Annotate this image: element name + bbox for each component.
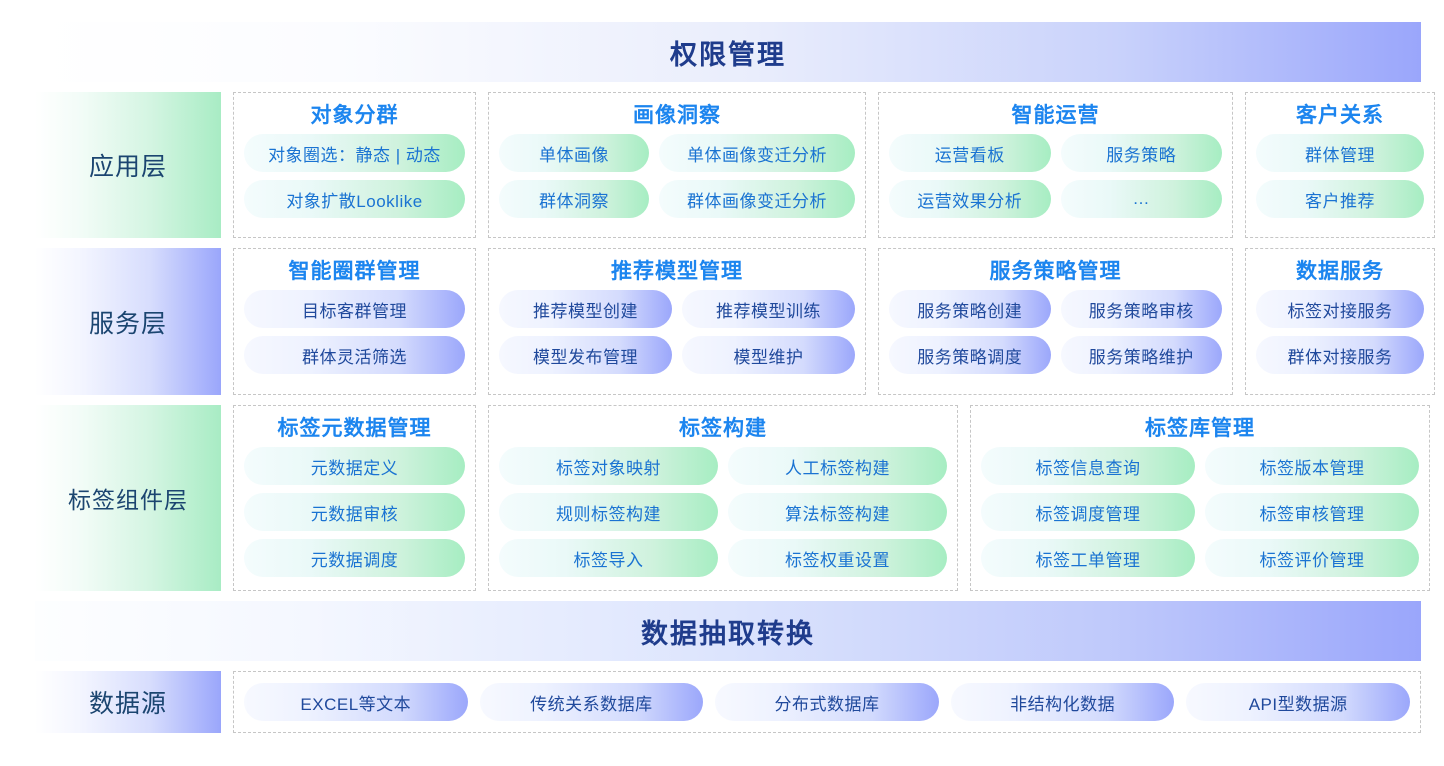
pill-item[interactable]: 标签评价管理 [1205,539,1419,577]
pill-grid: 服务策略创建 服务策略审核 服务策略调度 服务策略维护 [889,290,1222,385]
section-tag-library-management: 标签库管理 标签信息查询 标签版本管理 标签调度管理 标签审核管理 标签工单管理… [970,405,1430,591]
pill-item[interactable]: 服务策略创建 [889,290,1051,328]
pill-item[interactable]: 群体灵活筛选 [244,336,465,374]
pill-item[interactable]: 服务策略维护 [1061,336,1223,374]
section-title: 标签构建 [499,412,947,442]
layer-application: 应用层 对象分群 对象圈选：静态 | 动态 对象扩散Looklike 画像洞察 [35,92,1421,238]
section-title: 画像洞察 [499,99,855,129]
layer-label-data-source: 数据源 [35,671,221,733]
section-portrait-insight: 画像洞察 单体画像 单体画像变迁分析 群体洞察 群体画像变迁分析 [488,92,866,238]
pill-item[interactable]: 服务策略调度 [889,336,1051,374]
pill-row: 运营效果分析 … [889,180,1222,218]
layer-data-source: 数据源 EXCEL等文本 传统关系数据库 分布式数据库 非结构化数据 API型数… [35,671,1421,733]
pill-row: 目标客群管理 [244,290,465,328]
section-smart-group-management: 智能圈群管理 目标客群管理 群体灵活筛选 [233,248,476,395]
application-sections: 对象分群 对象圈选：静态 | 动态 对象扩散Looklike 画像洞察 单体画像… [233,92,1435,238]
pill-item[interactable]: 目标客群管理 [244,290,465,328]
pill-item[interactable]: 群体管理 [1256,134,1424,172]
layer-label-service: 服务层 [35,248,221,395]
pill-item[interactable]: 元数据调度 [244,539,465,577]
pill-row: 群体管理 [1256,134,1424,172]
section-data-service: 数据服务 标签对接服务 群体对接服务 [1245,248,1435,395]
pill-row: 标签工单管理 标签评价管理 [981,539,1419,577]
pill-item[interactable]: 元数据定义 [244,447,465,485]
section-title: 智能运营 [889,99,1222,129]
tag-component-sections: 标签元数据管理 元数据定义 元数据审核 元数据调度 标签构建 [233,405,1430,591]
pill-row: 单体画像 单体画像变迁分析 [499,134,855,172]
pill-item[interactable]: 标签工单管理 [981,539,1195,577]
section-title: 服务策略管理 [889,255,1222,285]
pill-item[interactable]: 模型发布管理 [499,336,672,374]
pill-item[interactable]: 模型维护 [682,336,855,374]
pill-row: 服务策略创建 服务策略审核 [889,290,1222,328]
pill-item[interactable]: 标签对象映射 [499,447,718,485]
pill-row: 运营看板 服务策略 [889,134,1222,172]
data-source-item[interactable]: 非结构化数据 [951,683,1175,721]
section-customer-relation: 客户关系 群体管理 客户推荐 [1245,92,1435,238]
section-title: 标签库管理 [981,412,1419,442]
pill-item[interactable]: 单体画像 [499,134,649,172]
pill-item[interactable]: 运营看板 [889,134,1051,172]
pill-grid: 标签信息查询 标签版本管理 标签调度管理 标签审核管理 标签工单管理 标签评价管… [981,447,1419,581]
layer-service: 服务层 智能圈群管理 目标客群管理 群体灵活筛选 推荐模型管理 推荐模型创建 [35,248,1421,395]
pill-row: 群体洞察 群体画像变迁分析 [499,180,855,218]
pill-item[interactable]: 标签信息查询 [981,447,1195,485]
pill-grid: 单体画像 单体画像变迁分析 群体洞察 群体画像变迁分析 [499,134,855,228]
pill-item[interactable]: 对象扩散Looklike [244,180,465,218]
section-title: 客户关系 [1256,99,1424,129]
pill-item[interactable]: 规则标签构建 [499,493,718,531]
pill-row: 元数据审核 [244,493,465,531]
pill-row: 标签调度管理 标签审核管理 [981,493,1419,531]
pill-item[interactable]: 服务策略审核 [1061,290,1223,328]
pill-item[interactable]: 对象圈选：静态 | 动态 [244,134,465,172]
banner-data-extraction-transformation: 数据抽取转换 [35,601,1421,661]
pill-grid: 目标客群管理 群体灵活筛选 [244,290,465,385]
section-object-grouping: 对象分群 对象圈选：静态 | 动态 对象扩散Looklike [233,92,476,238]
pill-item[interactable]: 推荐模型创建 [499,290,672,328]
pill-item[interactable]: 算法标签构建 [728,493,947,531]
pill-row: 群体灵活筛选 [244,336,465,374]
pill-row: 标签信息查询 标签版本管理 [981,447,1419,485]
pill-item[interactable]: 标签版本管理 [1205,447,1419,485]
pill-row: 规则标签构建 算法标签构建 [499,493,947,531]
layer-label-tag-component: 标签组件层 [35,405,221,591]
section-recommend-model-management: 推荐模型管理 推荐模型创建 推荐模型训练 模型发布管理 模型维护 [488,248,866,395]
pill-grid: 标签对象映射 人工标签构建 规则标签构建 算法标签构建 标签导入 标签权重设置 [499,447,947,581]
pill-item[interactable]: 标签权重设置 [728,539,947,577]
pill-row: 推荐模型创建 推荐模型训练 [499,290,855,328]
layer-tag-component: 标签组件层 标签元数据管理 元数据定义 元数据审核 元数据调度 标签构建 [35,405,1421,591]
pill-item[interactable]: 标签对接服务 [1256,290,1424,328]
pill-row: 标签对接服务 [1256,290,1424,328]
service-sections: 智能圈群管理 目标客群管理 群体灵活筛选 推荐模型管理 推荐模型创建 推荐模型训… [233,248,1435,395]
pill-item[interactable]: 推荐模型训练 [682,290,855,328]
pill-row: 标签导入 标签权重设置 [499,539,947,577]
pill-item[interactable]: 人工标签构建 [728,447,947,485]
pill-item[interactable]: 标签调度管理 [981,493,1195,531]
pill-item[interactable]: 群体洞察 [499,180,649,218]
section-tag-construction: 标签构建 标签对象映射 人工标签构建 规则标签构建 算法标签构建 标签导入 标签… [488,405,958,591]
pill-item[interactable]: 客户推荐 [1256,180,1424,218]
pill-item[interactable]: 标签审核管理 [1205,493,1419,531]
data-source-item[interactable]: 传统关系数据库 [480,683,704,721]
pill-grid: 群体管理 客户推荐 [1256,134,1424,228]
section-tag-metadata-management: 标签元数据管理 元数据定义 元数据审核 元数据调度 [233,405,476,591]
section-title: 数据服务 [1256,255,1424,285]
pill-item[interactable]: 单体画像变迁分析 [659,134,855,172]
banner-permission-management: 权限管理 [35,22,1421,82]
data-source-item[interactable]: 分布式数据库 [715,683,939,721]
section-title: 智能圈群管理 [244,255,465,285]
section-title: 推荐模型管理 [499,255,855,285]
pill-grid: 运营看板 服务策略 运营效果分析 … [889,134,1222,228]
pill-row: 对象圈选：静态 | 动态 [244,134,465,172]
pill-row: 元数据定义 [244,447,465,485]
pill-row: 服务策略调度 服务策略维护 [889,336,1222,374]
pill-row: 元数据调度 [244,539,465,577]
section-title: 标签元数据管理 [244,412,465,442]
pill-grid: 推荐模型创建 推荐模型训练 模型发布管理 模型维护 [499,290,855,385]
pill-grid: 标签对接服务 群体对接服务 [1256,290,1424,385]
architecture-diagram: 权限管理 应用层 对象分群 对象圈选：静态 | 动态 对象扩散Looklike … [35,22,1421,744]
section-title: 对象分群 [244,99,465,129]
data-source-item[interactable]: EXCEL等文本 [244,683,468,721]
pill-item-ellipsis[interactable]: … [1061,180,1223,218]
data-source-item[interactable]: API型数据源 [1186,683,1410,721]
pill-row: 标签对象映射 人工标签构建 [499,447,947,485]
data-source-items: EXCEL等文本 传统关系数据库 分布式数据库 非结构化数据 API型数据源 [233,671,1421,733]
pill-row: 模型发布管理 模型维护 [499,336,855,374]
section-intelligent-operation: 智能运营 运营看板 服务策略 运营效果分析 … [878,92,1233,238]
pill-row: 客户推荐 [1256,180,1424,218]
pill-item[interactable]: 运营效果分析 [889,180,1051,218]
section-service-policy-management: 服务策略管理 服务策略创建 服务策略审核 服务策略调度 服务策略维护 [878,248,1233,395]
pill-item[interactable]: 服务策略 [1061,134,1223,172]
pill-item[interactable]: 标签导入 [499,539,718,577]
pill-grid: 元数据定义 元数据审核 元数据调度 [244,447,465,581]
pill-item[interactable]: 群体画像变迁分析 [659,180,855,218]
pill-row: 群体对接服务 [1256,336,1424,374]
pill-grid: 对象圈选：静态 | 动态 对象扩散Looklike [244,134,465,228]
pill-item[interactable]: 群体对接服务 [1256,336,1424,374]
layer-label-application: 应用层 [35,92,221,238]
pill-row: 对象扩散Looklike [244,180,465,218]
pill-item[interactable]: 元数据审核 [244,493,465,531]
